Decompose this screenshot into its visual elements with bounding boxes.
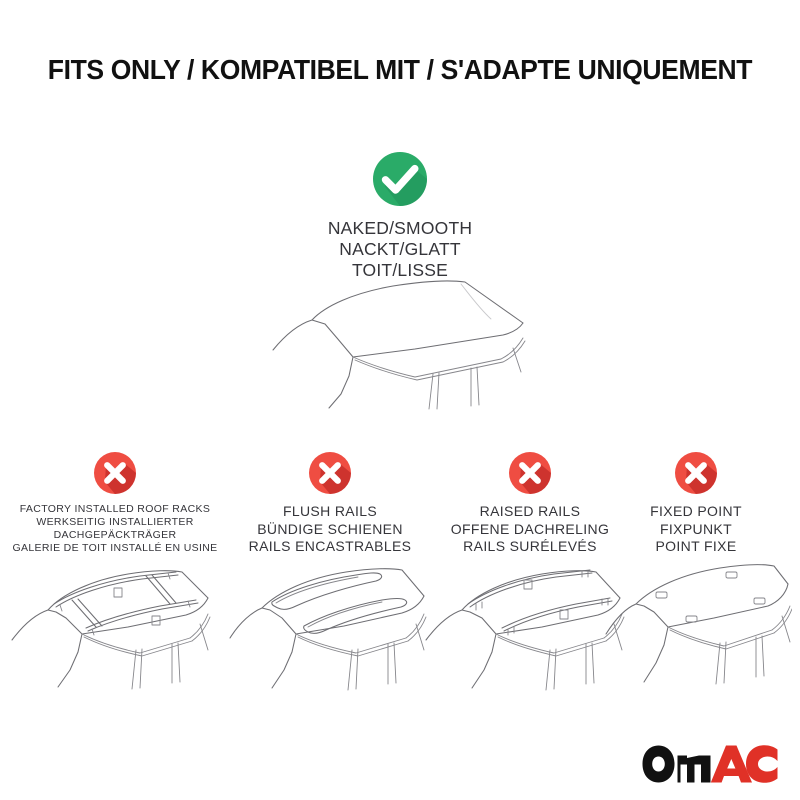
car-roof-flush-rails-illustration xyxy=(224,556,436,696)
approved-roof-type-block: NAKED/SMOOTH NACKT/GLATT TOIT/LISSE xyxy=(0,152,800,281)
rejected-label-line-1: RAISED RAILS xyxy=(430,503,630,521)
x-circle-icon xyxy=(509,452,551,494)
header: FITS ONLY / KOMPATIBEL MIT / S'ADAPTE UN… xyxy=(0,54,800,86)
rejected-labels: FACTORY INSTALLED ROOF RACKS WERKSEITIG … xyxy=(0,503,230,555)
rejected-roof-types-row: FACTORY INSTALLED ROOF RACKS WERKSEITIG … xyxy=(0,452,800,732)
rejected-roof-type-flush-rails: FLUSH RAILS BÜNDIGE SCHIENEN RAILS ENCAS… xyxy=(232,452,428,556)
rejected-roof-type-raised-rails: RAISED RAILS OFFENE DACHRELING RAILS SUR… xyxy=(430,452,630,556)
approved-label-line-1: NAKED/SMOOTH xyxy=(0,218,800,239)
rejected-label-line-3: RAILS ENCASTRABLES xyxy=(232,538,428,556)
rejected-label-line-1: FLUSH RAILS xyxy=(232,503,428,521)
rejected-label-line-2: WERKSEITIG INSTALLIERTER xyxy=(0,516,230,529)
car-roof-fixed-point-illustration xyxy=(602,550,792,690)
rejected-labels: FLUSH RAILS BÜNDIGE SCHIENEN RAILS ENCAS… xyxy=(232,503,428,556)
rejected-label-line-1: FACTORY INSTALLED ROOF RACKS xyxy=(0,503,230,516)
page-title: FITS ONLY / KOMPATIBEL MIT / S'ADAPTE UN… xyxy=(48,54,752,86)
car-roof-factory-roof-racks-illustration xyxy=(0,554,230,694)
rejected-label-line-2: OFFENE DACHRELING xyxy=(430,521,630,539)
rejected-roof-type-factory-roof-racks: FACTORY INSTALLED ROOF RACKS WERKSEITIG … xyxy=(0,452,230,555)
rejected-label-line-2: FIXPUNKT xyxy=(612,521,780,539)
rejected-labels: FIXED POINT FIXPUNKT POINT FIXE xyxy=(612,503,780,556)
omac-logo xyxy=(640,742,780,788)
approved-labels: NAKED/SMOOTH NACKT/GLATT TOIT/LISSE xyxy=(0,218,800,281)
check-circle-icon xyxy=(373,152,427,206)
rejected-label-line-2: BÜNDIGE SCHIENEN xyxy=(232,521,428,539)
car-roof-naked-smooth-illustration xyxy=(265,276,555,411)
approved-label-line-2: NACKT/GLATT xyxy=(0,239,800,260)
x-circle-icon xyxy=(309,452,351,494)
x-circle-icon xyxy=(675,452,717,494)
x-circle-icon xyxy=(94,452,136,494)
rejected-label-line-1: FIXED POINT xyxy=(612,503,780,521)
rejected-roof-type-fixed-point: FIXED POINT FIXPUNKT POINT FIXE xyxy=(612,452,780,556)
rejected-label-line-3: DACHGEPÄCKTRÄGER xyxy=(0,529,230,542)
